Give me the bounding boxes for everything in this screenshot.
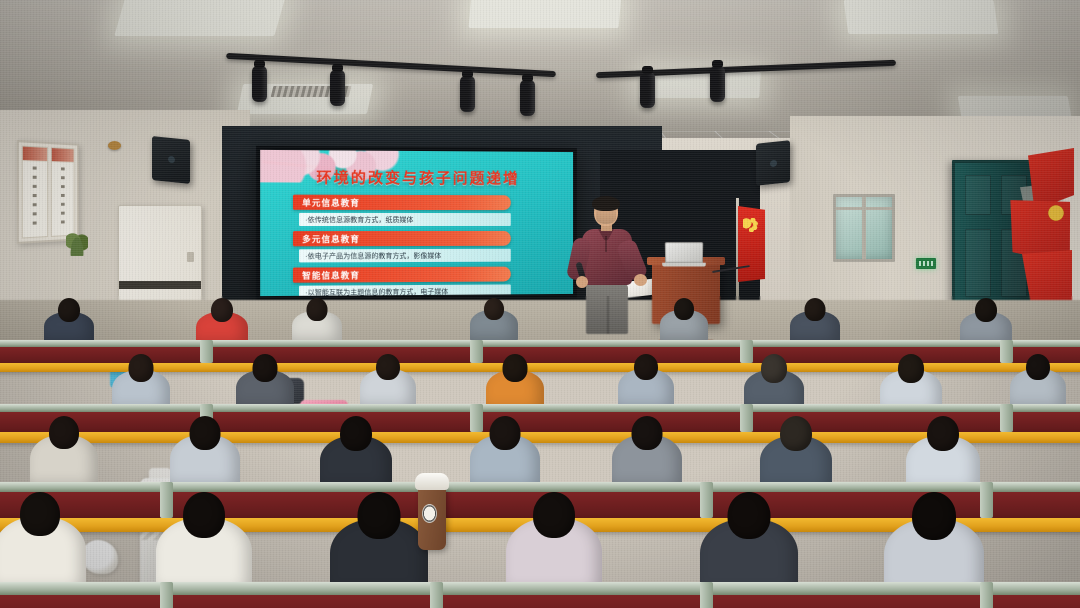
attendee-head: [190, 416, 221, 450]
attendee-head: [898, 354, 924, 383]
scroll-panel: [22, 146, 48, 239]
attendee-head: [533, 492, 575, 538]
smoke-detector-icon: [108, 141, 121, 150]
attendee-head: [253, 354, 278, 382]
cabinet-latch[interactable]: [187, 252, 194, 262]
attendee-lightblue-3: [470, 416, 540, 486]
attendee-head: [58, 298, 80, 322]
attendee-blue-shirt: [112, 354, 170, 410]
tumbler-logo-icon: [422, 504, 437, 523]
attendee-head: [307, 298, 328, 321]
attendee-dark-jacket-3: [320, 416, 392, 488]
emergency-exit-sign: [916, 258, 936, 269]
attendee-orange-sweater: [486, 354, 544, 410]
attendee-grey-far: [660, 298, 708, 340]
desk-divider-leg: [700, 582, 713, 608]
attendee-phone-user: [0, 492, 86, 588]
attendee-man-grey: [744, 354, 804, 410]
slide-block-body: ·以智能互联为主题信息的教育方式，电子媒体: [299, 284, 511, 296]
presentation-slide: 环境的改变与孩子问题递增 单元信息教育 ·依传统信息源教育方式，纸质媒体 多元信…: [260, 150, 573, 296]
attendee-head: [805, 298, 826, 321]
laptop-keyboard: [662, 263, 706, 267]
slide-block-header: 多元信息教育: [293, 231, 511, 246]
projection-screen: 环境的改变与孩子问题递增 单元信息教育 ·依传统信息源教育方式，纸质媒体 多元信…: [256, 146, 577, 300]
scroll-calligraphy: [33, 167, 37, 228]
presenter-laptop[interactable]: [662, 242, 707, 265]
attendee-head: [912, 492, 956, 540]
slide-block-body: ·依传统信息源教育方式，纸质媒体: [299, 213, 511, 226]
presenter-right-hand: [634, 274, 647, 286]
potted-plant: [66, 226, 88, 256]
attendee-head: [674, 298, 694, 320]
presenter-face-shadow: [596, 210, 616, 224]
audience-seating: [0, 296, 1080, 608]
attendee-head: [927, 416, 959, 451]
window-transom: [836, 207, 892, 210]
audience-desk-row: [0, 582, 1080, 608]
attendee-head: [634, 354, 658, 380]
laptop-screen: [665, 242, 703, 263]
attendee-white-top-2: [156, 492, 252, 590]
wall-loudspeaker-icon: [756, 140, 790, 186]
desk-edge-rail: [0, 404, 1080, 412]
attendee-white-shirt-3: [906, 416, 980, 490]
attendee-head: [728, 492, 771, 539]
attendee-head: [358, 492, 401, 539]
attendee-teal-right: [470, 298, 518, 340]
attendee-head: [1026, 354, 1050, 380]
attendee-head: [20, 492, 60, 536]
attendee-dark-right: [790, 298, 840, 342]
attendee-head: [490, 416, 521, 450]
attendee-center-3: [612, 416, 682, 486]
attendee-head: [376, 354, 400, 380]
attendee-red-top: [196, 298, 248, 344]
attendee-front-left-3: [30, 416, 98, 486]
banner-gold-emblem: [1046, 204, 1066, 222]
attendee-edge-right: [960, 298, 1012, 344]
desk-divider-leg: [980, 582, 993, 608]
attendee-right-2: [884, 492, 984, 594]
attendee-head: [129, 354, 154, 382]
attendee-far-right-4: [1010, 354, 1066, 408]
slide-title: 环境的改变与孩子问题递增: [260, 166, 573, 188]
slide-block-body: ·依电子产品为信息源的教育方式，影像媒体: [299, 249, 511, 263]
scroll-calligraphy: [61, 168, 65, 227]
attendee-head: [975, 298, 997, 322]
presenter-hair: [592, 196, 620, 211]
attendee-head: [340, 416, 372, 451]
attendee-dark-hair-mid: [236, 354, 294, 408]
thermos-tumbler[interactable]: [418, 486, 446, 550]
attendee-white-top: [292, 298, 342, 342]
desk-edge-rail: [0, 340, 1080, 347]
attendee-head: [49, 416, 79, 449]
wall-cabinet: [118, 205, 202, 303]
flag-stars-icon: [743, 218, 758, 232]
slide-block: 多元信息教育 ·依电子产品为信息源的教育方式，影像媒体: [293, 231, 511, 263]
attendee-pale-blue: [618, 354, 674, 408]
attendee-plaid-shirt: [506, 492, 602, 590]
attendee-head: [503, 354, 528, 382]
door-panel: [965, 229, 991, 297]
attendee-lady-bun: [360, 354, 416, 408]
tumbler-lid: [415, 473, 449, 490]
attendee-checked-2: [700, 492, 798, 592]
attendee-head: [761, 354, 787, 383]
scroll-panel: [50, 147, 74, 237]
china-national-flag: [738, 206, 765, 282]
attendee-head: [211, 298, 233, 322]
attendee-head: [780, 416, 812, 451]
attendee-black-hair-2: [330, 492, 428, 592]
attendee-ponytail-3: [170, 416, 240, 486]
slide-block: 单元信息教育 ·依传统信息源教育方式，纸质媒体: [293, 195, 511, 226]
presenter-placket: [605, 236, 607, 252]
attendee-head: [632, 416, 663, 450]
wall-loudspeaker-icon: [152, 136, 190, 184]
slide-block-header: 单元信息教育: [293, 195, 511, 210]
attendee-blue-grey-3: [760, 416, 832, 488]
desk-divider-leg: [160, 582, 173, 608]
slide-block: 智能信息教育 ·以智能互联为主题信息的教育方式，电子媒体: [293, 267, 511, 297]
attendee-head: [484, 298, 504, 320]
slide-block-header: 智能信息教育: [293, 267, 511, 283]
side-window: [833, 194, 895, 262]
lecture-hall-photo: 环境的改变与孩子问题递增 单元信息教育 ·依传统信息源教育方式，纸质媒体 多元信…: [0, 0, 1080, 608]
door-panel: [965, 175, 991, 215]
desk-divider-leg: [430, 582, 443, 608]
attendee-head: [183, 492, 225, 538]
attendee-navy-left: [44, 298, 94, 342]
presenter-left-hand: [576, 276, 588, 288]
